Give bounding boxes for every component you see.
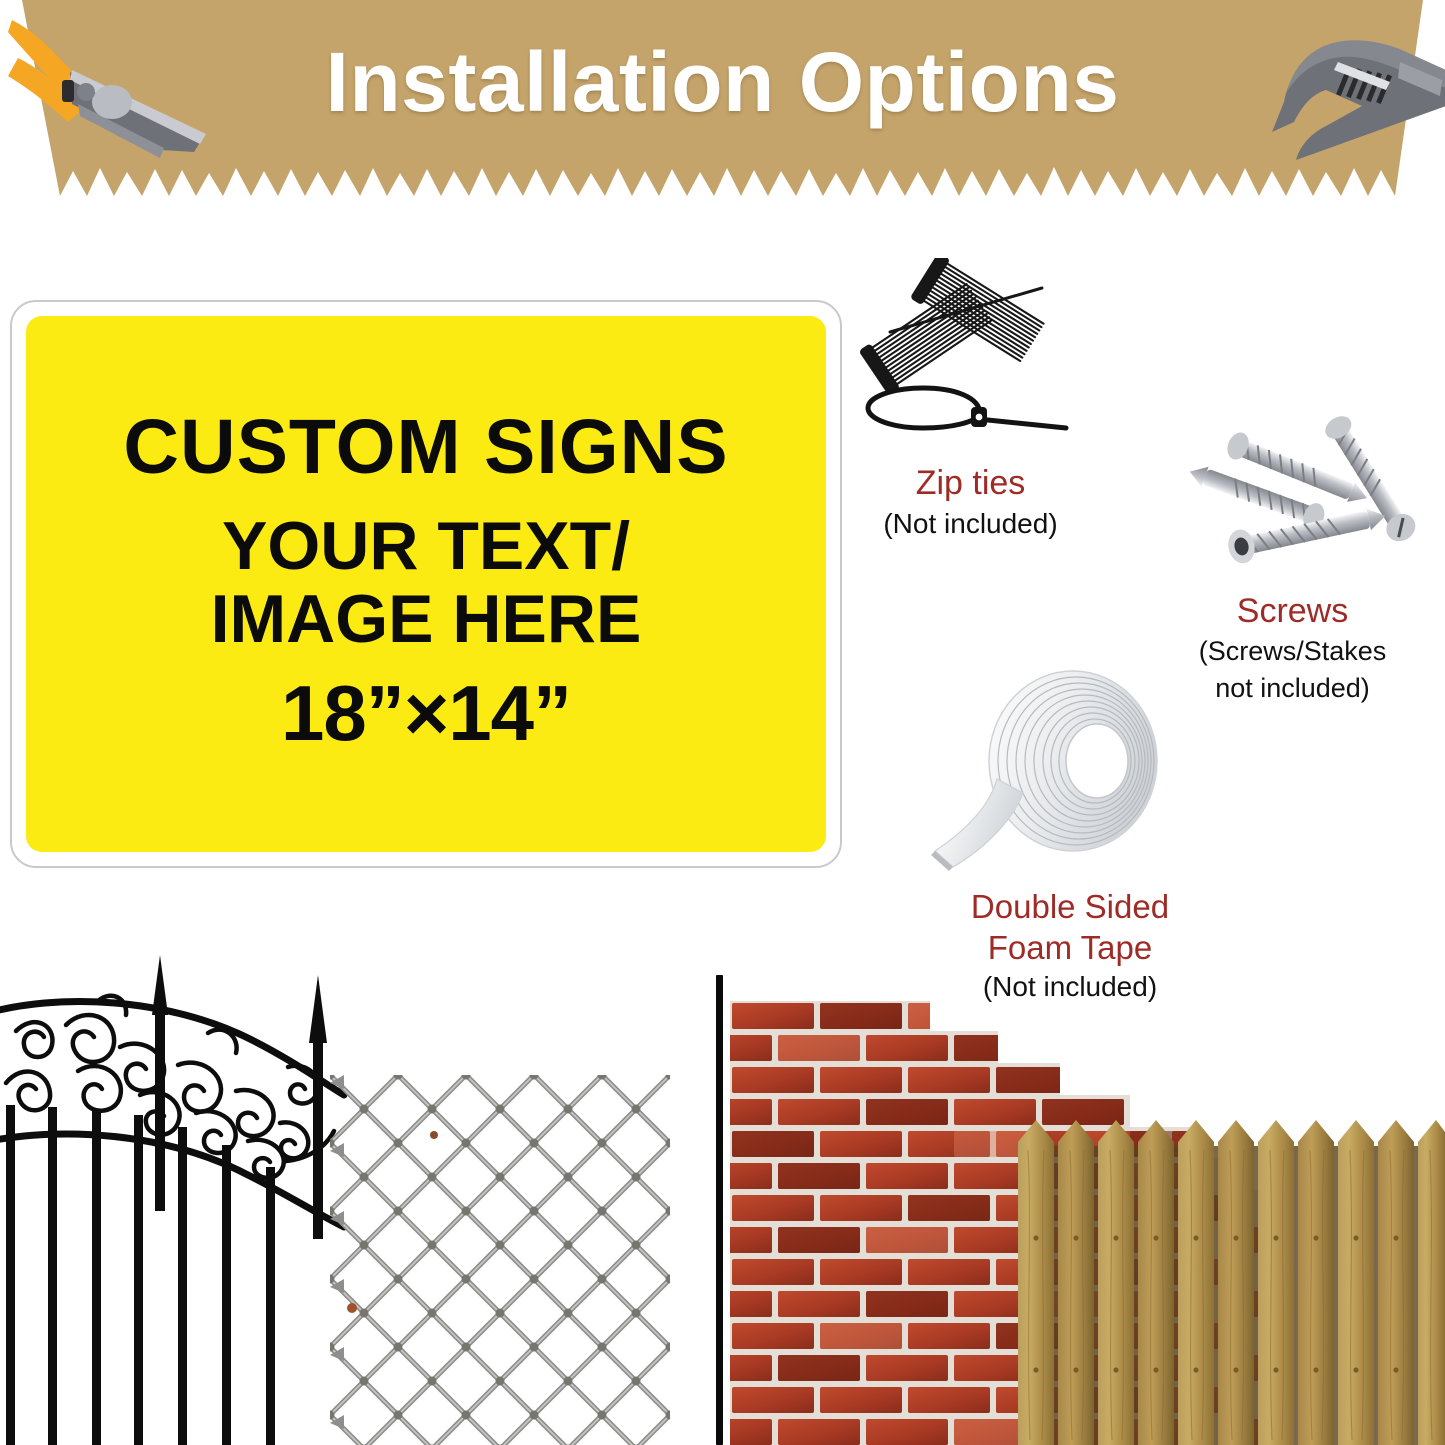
screws-icon [1140,415,1445,590]
sign-line-1: CUSTOM SIGNS [123,409,728,486]
item-title-foam-tape-line1: Double Sided [905,889,1235,926]
item-title-screws: Screws [1140,592,1445,630]
sign-line-2: YOUR TEXT/ [222,510,630,583]
page-title: Installation Options [0,34,1445,131]
item-note-zip-ties: (Not included) [828,508,1113,540]
wood-picket-fence-icon [1018,1120,1445,1445]
fence-divider-post [716,975,723,1445]
foam-tape-roll-icon [905,655,1235,885]
item-zip-ties: Zip ties (Not included) [828,258,1113,540]
wrought-iron-gate-icon [0,955,350,1445]
custom-sign-preview: CUSTOM SIGNS YOUR TEXT/ IMAGE HERE 18”×1… [10,300,842,868]
item-title-zip-ties: Zip ties [828,464,1113,502]
sign-dimensions: 18”×14” [281,668,571,759]
mounting-surfaces-scene [0,955,1445,1445]
item-foam-tape: Double Sided Foam Tape (Not included) [905,655,1235,1003]
chain-link-fence-icon [330,1075,670,1445]
sign-face: CUSTOM SIGNS YOUR TEXT/ IMAGE HERE 18”×1… [26,316,826,852]
zip-ties-icon [828,258,1113,458]
sign-line-3: IMAGE HERE [211,583,642,656]
header-banner: Installation Options [0,0,1445,230]
